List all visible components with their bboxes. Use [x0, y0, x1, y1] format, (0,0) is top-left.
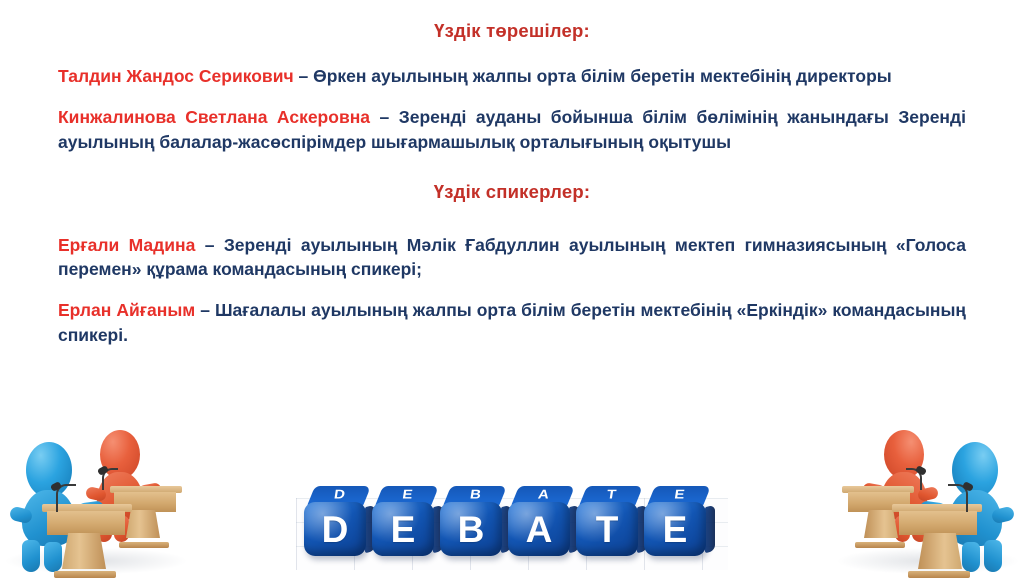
figure-arm	[77, 500, 105, 517]
die-side-face	[705, 505, 715, 553]
die-front-face: B	[440, 502, 502, 556]
figure-arm	[138, 482, 162, 498]
die-top-letter: E	[650, 488, 708, 502]
die-front-face: A	[508, 502, 570, 556]
podium-face	[848, 492, 910, 512]
slide-artwork: D D E E B B A A	[0, 400, 1024, 576]
die-5: T T	[576, 486, 642, 556]
entry-speaker-2-separator: –	[195, 300, 215, 320]
die-top-letter: E	[378, 488, 436, 502]
die-top-face: D	[307, 486, 371, 506]
die-top-face: A	[511, 486, 575, 506]
die-top-letter: D	[310, 488, 368, 502]
podium-face	[114, 492, 176, 512]
figure-leg	[895, 516, 910, 542]
figure-red-person	[84, 430, 158, 538]
entry-judge-1: Талдин Жандос Серикович – Өркен ауылының…	[0, 64, 1024, 89]
die-top-letter: B	[446, 488, 504, 502]
podium-base	[908, 571, 970, 578]
podium-desktop	[42, 504, 132, 512]
dice-grid-floor	[296, 498, 728, 570]
entry-speaker-2: Ерлан Айғаным – Шағалалы ауылының жалпы …	[0, 298, 1024, 348]
microphone-head	[915, 465, 927, 476]
entry-speaker-1-separator: –	[195, 235, 223, 255]
figure-arm	[917, 486, 939, 502]
die-side-face	[637, 505, 647, 553]
microphone-head	[50, 481, 62, 492]
die-top-letter: A	[514, 488, 572, 502]
microphone-head	[962, 481, 974, 492]
figure-head	[26, 442, 72, 498]
entry-judge-2: Кинжалинова Светлана Аскеровна – Зеренді…	[0, 105, 1024, 155]
figure-leg	[44, 542, 62, 572]
podium-front	[892, 504, 982, 576]
figure-body	[97, 472, 143, 520]
podium-face	[899, 511, 977, 535]
die-front-face: E	[372, 502, 434, 556]
podium-desktop	[110, 486, 182, 493]
entry-judge-2-name: Кинжалинова Светлана Аскеровна	[58, 107, 370, 127]
microphone-head	[97, 465, 109, 476]
die-letter: A	[526, 511, 553, 548]
die-4: A A	[508, 486, 574, 556]
podium-front	[42, 504, 132, 576]
die-top-letter: T	[582, 488, 640, 502]
die-letter: E	[663, 511, 688, 548]
microphone-stem	[56, 484, 76, 512]
debate-figures-right	[834, 404, 1024, 576]
figure-leg	[22, 540, 40, 572]
figure-arm	[85, 486, 107, 502]
figure-arm	[991, 506, 1016, 525]
die-side-face	[433, 505, 443, 553]
heading-best-speakers: Үздік спикерлер:	[0, 181, 1024, 203]
figure-shadow	[6, 548, 186, 574]
die-top-face: B	[443, 486, 507, 506]
entry-judge-1-name: Талдин Жандос Серикович	[58, 66, 294, 86]
die-3: B B	[440, 486, 506, 556]
die-top-face: E	[647, 486, 711, 506]
die-letter: B	[458, 511, 485, 548]
die-front-face: D	[304, 502, 366, 556]
die-letter: D	[322, 511, 349, 548]
entry-speaker-1-name: Ерғали Мадина	[58, 235, 195, 255]
figure-body	[22, 490, 76, 546]
figure-blue-person	[926, 442, 1012, 570]
figure-head	[952, 442, 998, 498]
figure-leg	[962, 542, 980, 572]
die-top-face: T	[579, 486, 643, 506]
figure-shadow	[838, 548, 1018, 574]
entry-judge-1-description: Өркен ауылының жалпы орта білім беретін …	[313, 66, 892, 86]
die-top-face: E	[375, 486, 439, 506]
die-6: E E	[644, 486, 710, 556]
podium-face	[47, 511, 125, 535]
podium-desktop	[892, 504, 982, 512]
figure-leg	[114, 516, 129, 542]
figure-red-person	[866, 430, 940, 538]
heading-best-judges: Үздік төрешілер:	[0, 20, 1024, 42]
die-side-face	[569, 505, 579, 553]
figure-head	[100, 430, 140, 479]
podium-base	[855, 542, 905, 548]
figure-leg	[984, 540, 1002, 572]
podium-desktop	[842, 486, 914, 493]
die-letter: E	[391, 511, 416, 548]
figure-arm	[862, 482, 886, 498]
figure-leg	[96, 514, 112, 542]
figure-arm	[919, 500, 947, 517]
podium-base	[119, 542, 169, 548]
figure-leg	[912, 514, 928, 542]
podium-stand	[126, 510, 160, 538]
die-2: E E	[372, 486, 438, 556]
entry-speaker-1: Ерғали Мадина – Зеренді ауылының Мәлік Ғ…	[0, 233, 1024, 283]
die-1: D D	[304, 486, 370, 556]
figure-body	[948, 490, 1002, 546]
dice-row: D D E E B B A A	[304, 486, 710, 556]
podium-back	[110, 486, 182, 544]
podium-stand	[918, 533, 962, 569]
entry-speaker-2-name: Ерлан Айғаным	[58, 300, 195, 320]
podium-base	[54, 571, 116, 578]
slide-content: Үздік төрешілер: Талдин Жандос Серикович…	[0, 0, 1024, 348]
microphone-stem	[948, 484, 968, 512]
die-front-face: E	[644, 502, 706, 556]
podium-back	[842, 486, 914, 544]
podium-stand	[62, 533, 106, 569]
figure-head	[884, 430, 924, 479]
die-letter: T	[596, 511, 619, 548]
microphone-stem	[906, 468, 922, 490]
die-side-face	[501, 505, 511, 553]
entry-judge-2-separator: –	[370, 107, 399, 127]
microphone-stem	[102, 468, 118, 490]
entry-judge-1-separator: –	[294, 66, 313, 86]
die-side-face	[365, 505, 375, 553]
figure-blue-person	[12, 442, 98, 570]
debate-dice: D D E E B B A A	[296, 442, 728, 570]
slide: Үздік төрешілер: Талдин Жандос Серикович…	[0, 0, 1024, 576]
figure-arm	[9, 506, 34, 525]
die-front-face: T	[576, 502, 638, 556]
figure-body	[881, 472, 927, 520]
debate-figures-left	[0, 404, 190, 576]
podium-stand	[864, 510, 898, 538]
